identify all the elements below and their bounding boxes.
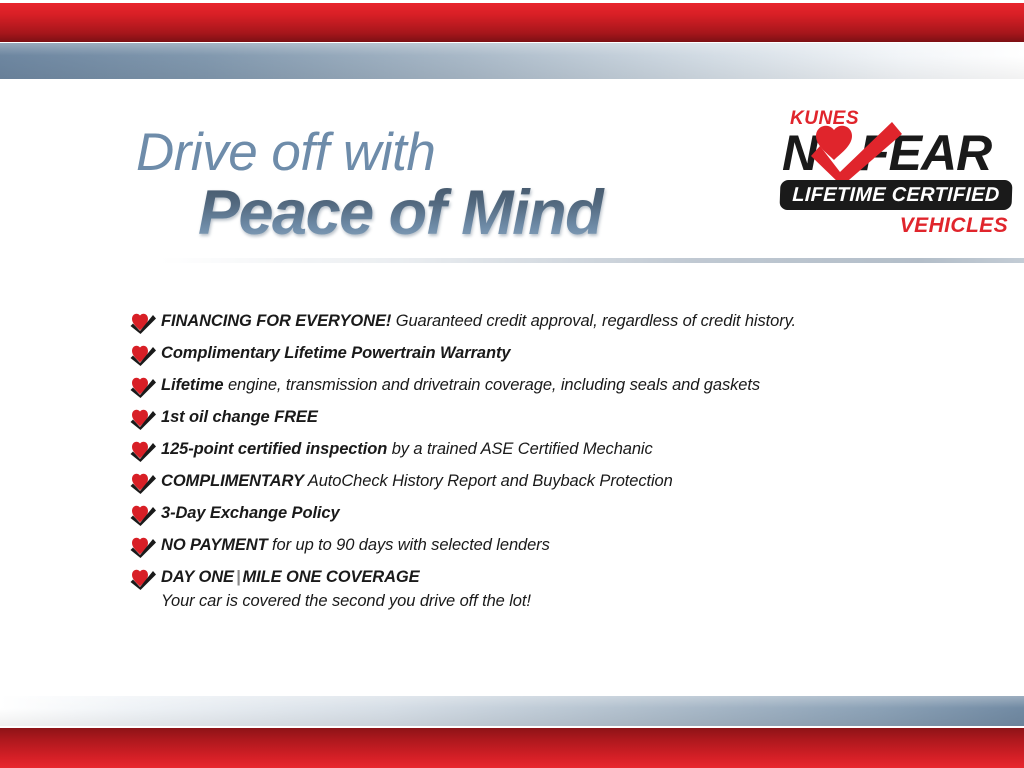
- list-item-text: 1st oil change FREE: [161, 406, 318, 428]
- list-item-lead-2: MILE ONE COVERAGE: [243, 568, 420, 586]
- list-item-text: DAY ONE|MILE ONE COVERAGE: [161, 566, 420, 588]
- top-gray-stripe-shading: [0, 43, 1024, 79]
- bottom-decorative-banner: [0, 688, 1024, 768]
- list-item-lead: DAY ONE: [161, 568, 234, 586]
- list-item-lead: 3-Day Exchange Policy: [161, 504, 340, 522]
- top-red-stripe: [0, 3, 1024, 42]
- logo-fear-text: FEAR: [859, 125, 991, 181]
- heart-check-bullet-icon: [130, 312, 156, 334]
- logo-lifetime-certified-bar: LIFETIME CERTIFIED: [779, 180, 1012, 210]
- list-item-rest: engine, transmission and drivetrain cove…: [223, 376, 760, 394]
- list-item-text: 3-Day Exchange Policy: [161, 502, 340, 524]
- list-item-rest: Guaranteed credit approval, regardless o…: [391, 312, 796, 330]
- list-item-lead: 1st oil change FREE: [161, 408, 318, 426]
- list-item-lead: FINANCING FOR EVERYONE!: [161, 312, 391, 330]
- heart-check-bullet-icon: [130, 568, 156, 590]
- heart-check-bullet-icon: [130, 408, 156, 430]
- bottom-red-stripe: [0, 728, 1024, 768]
- list-item-separator: |: [234, 568, 243, 586]
- list-item-lead: NO PAYMENT: [161, 536, 268, 554]
- headline-line-2: Peace of Mind: [198, 182, 756, 245]
- feature-list: FINANCING FOR EVERYONE! Guaranteed credi…: [130, 310, 990, 612]
- heart-check-bullet-icon: [130, 440, 156, 462]
- list-item: Complimentary Lifetime Powertrain Warran…: [130, 342, 990, 374]
- kunes-no-fear-logo: KUNES NFEAR LIFETIME CERTIFIED VEHICLES: [778, 108, 1014, 243]
- list-item: Lifetime engine, transmission and drivet…: [130, 374, 990, 406]
- headline-divider: [160, 258, 1024, 263]
- list-item-rest: AutoCheck History Report and Buyback Pro…: [304, 472, 673, 490]
- list-item: 1st oil change FREE: [130, 406, 990, 438]
- list-item: NO PAYMENT for up to 90 days with select…: [130, 534, 990, 566]
- list-item: DAY ONE|MILE ONE COVERAGE: [130, 566, 990, 598]
- list-item-text: 125-point certified inspection by a trai…: [161, 438, 653, 460]
- list-item-lead: 125-point certified inspection: [161, 440, 387, 458]
- list-item-lead: Complimentary Lifetime Powertrain Warran…: [161, 344, 510, 362]
- heart-check-bullet-icon: [130, 344, 156, 366]
- list-item-lead: COMPLIMENTARY: [161, 472, 304, 490]
- heart-check-bullet-icon: [130, 472, 156, 494]
- list-item: FINANCING FOR EVERYONE! Guaranteed credi…: [130, 310, 990, 342]
- heart-check-bullet-icon: [130, 376, 156, 398]
- logo-lifetime-certified-text: LIFETIME CERTIFIED: [779, 180, 1012, 210]
- logo-letter-n: N: [782, 125, 817, 181]
- headline-block: Drive off with Peace of Mind: [136, 126, 756, 245]
- list-item: 3-Day Exchange Policy: [130, 502, 990, 534]
- list-item: COMPLIMENTARY AutoCheck History Report a…: [130, 470, 990, 502]
- bottom-gray-stripe-shading: [0, 696, 1024, 726]
- list-item-text: Complimentary Lifetime Powertrain Warran…: [161, 342, 510, 364]
- list-item-rest: by a trained ASE Certified Mechanic: [387, 440, 652, 458]
- logo-no-fear-wordmark: NFEAR: [782, 128, 991, 178]
- list-item-text: NO PAYMENT for up to 90 days with select…: [161, 534, 550, 556]
- list-item-text: FINANCING FOR EVERYONE! Guaranteed credi…: [161, 310, 796, 332]
- list-item: 125-point certified inspection by a trai…: [130, 438, 990, 470]
- top-decorative-banner: [0, 0, 1024, 82]
- list-item-lead: Lifetime: [161, 376, 223, 394]
- list-item-text: Lifetime engine, transmission and drivet…: [161, 374, 760, 396]
- list-item-rest: for up to 90 days with selected lenders: [268, 536, 550, 554]
- heart-check-bullet-icon: [130, 536, 156, 558]
- list-item-text: COMPLIMENTARY AutoCheck History Report a…: [161, 470, 673, 492]
- headline-line-1: Drive off with: [136, 126, 756, 179]
- heart-check-bullet-icon: [130, 504, 156, 526]
- logo-vehicles-text: VEHICLES: [900, 214, 1008, 238]
